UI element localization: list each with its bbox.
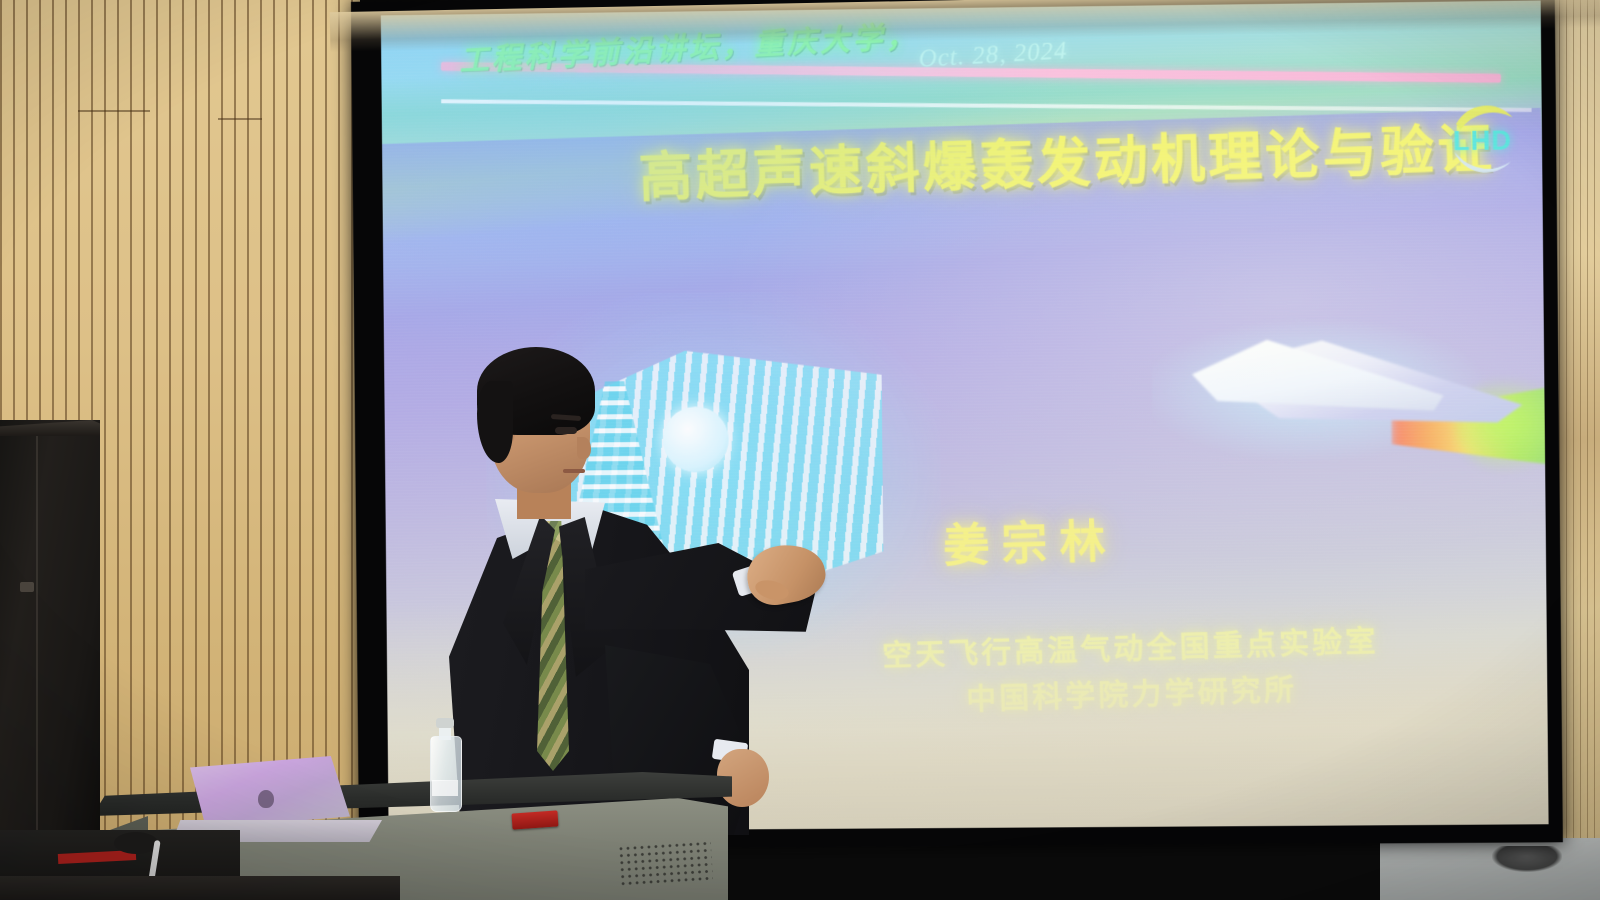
slide-speaker-name: 姜宗林 (942, 505, 1118, 576)
presenter-mouth (563, 469, 585, 473)
water-bottle[interactable] (430, 718, 460, 810)
microphone[interactable] (114, 832, 158, 854)
equipment-rack-latch[interactable] (20, 582, 34, 592)
presenter-sideburn (477, 381, 513, 463)
lecture-photo-scene: 工程科学前沿讲坛，重庆大学， Oct. 28, 2024 高超声速斜爆轰发动机理… (0, 0, 1600, 900)
presenter-nose (577, 437, 591, 459)
bottle-cap[interactable] (436, 718, 454, 728)
chair-silhouette (1492, 846, 1562, 872)
lhd-logo-icon: LHD (1436, 93, 1530, 186)
lectern-speaker-grille (619, 841, 713, 887)
hypersonic-vehicle-image (1151, 301, 1548, 496)
lectern-red-label (511, 810, 558, 829)
equipment-rack (0, 420, 100, 876)
presenter (455, 345, 815, 825)
lhd-logo-label: LHD (1436, 125, 1529, 157)
presenter-eye (555, 427, 577, 434)
apple-logo-icon (258, 790, 274, 808)
bottle-label (432, 780, 458, 796)
floor (1380, 838, 1600, 900)
foreground-shadow (0, 876, 400, 900)
equipment-rack-door-seam (36, 436, 38, 876)
